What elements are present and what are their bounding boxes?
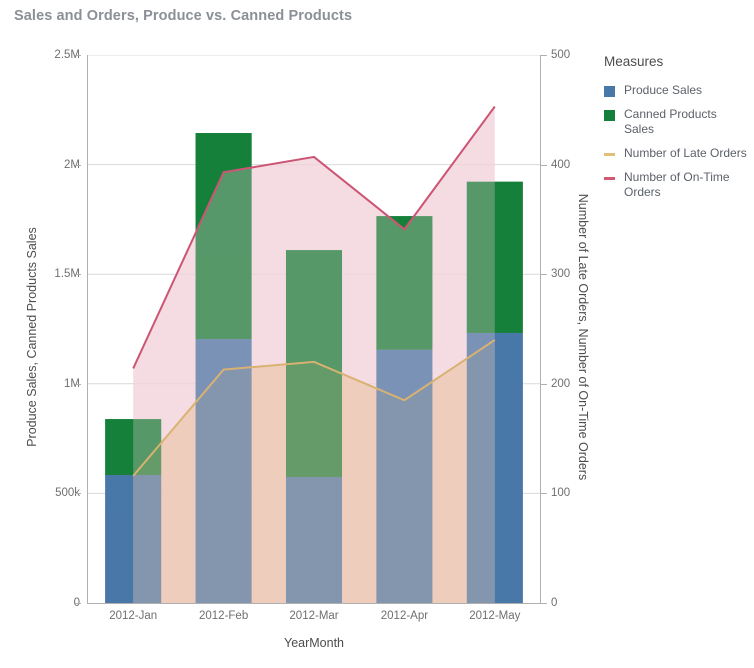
y-axis-right-tick-label: 500 — [551, 49, 570, 61]
bar-canned-products-sales-overlay[interactable] — [467, 182, 523, 333]
bar-canned-products-sales-overlay[interactable] — [105, 419, 161, 475]
y-axis-left-tick-label: 2M — [8, 159, 80, 171]
bar-produce-sales-overlay[interactable] — [105, 475, 161, 603]
bar-canned-products-sales-overlay[interactable] — [376, 216, 432, 350]
legend-item[interactable]: Canned Products Sales — [604, 107, 750, 137]
legend-item-label: Produce Sales — [624, 83, 702, 98]
y-axis-right-tick-mark — [541, 493, 547, 494]
y-axis-right-tick-label: 300 — [551, 268, 570, 280]
x-axis-title: YearMonth — [88, 636, 540, 650]
x-axis-tick-label: 2012-May — [450, 610, 540, 632]
x-axis-tick-label: 2012-Jan — [88, 610, 178, 632]
y-axis-right-tick-mark — [541, 603, 547, 604]
y-axis-left-tick-mark — [75, 274, 81, 275]
chart-container: Sales and Orders, Produce vs. Canned Pro… — [0, 0, 754, 668]
y-axis-right-tick-label: 200 — [551, 378, 570, 390]
legend-color-swatch-icon — [604, 110, 615, 121]
y-axis-right-tick-mark — [541, 165, 547, 166]
y-axis-left-tick-mark — [75, 493, 81, 494]
y-axis-left-title: Produce Sales, Canned Products Sales — [25, 177, 39, 497]
y-axis-left-tick-label: 1.5M — [8, 268, 80, 280]
plot-area[interactable] — [88, 55, 540, 603]
bar-produce-sales-overlay[interactable] — [196, 339, 252, 603]
y-axis-right-tick-mark — [541, 274, 547, 275]
legend-item[interactable]: Produce Sales — [604, 83, 750, 98]
y-axis-right-tick-label: 100 — [551, 487, 570, 499]
y-axis-left-tick-mark — [75, 55, 81, 56]
x-axis-tick-label: 2012-Apr — [359, 610, 449, 632]
legend-item-label: Number of Late Orders — [624, 146, 747, 161]
y-axis-right-tick-mark — [541, 384, 547, 385]
y-axis-left-tick-label: 1M — [8, 378, 80, 390]
bar-produce-sales-overlay[interactable] — [286, 477, 342, 603]
legend-item-label: Canned Products Sales — [624, 107, 750, 137]
plot-svg — [88, 55, 540, 603]
legend-title: Measures — [604, 54, 750, 69]
legend-items: Produce SalesCanned Products SalesNumber… — [604, 83, 750, 200]
x-axis-ticks: 2012-Jan2012-Feb2012-Mar2012-Apr2012-May — [88, 610, 540, 632]
legend-color-swatch-icon — [604, 86, 615, 97]
y-axis-left-tick-label: 500k — [8, 487, 80, 499]
y-axis-left-tick-label: 2.5M — [8, 49, 80, 61]
legend-line-swatch-icon — [604, 177, 615, 180]
x-axis-tick-label: 2012-Mar — [269, 610, 359, 632]
legend-item[interactable]: Number of On-Time Orders — [604, 170, 750, 200]
y-axis-left-ticks: 0500k1M1.5M2M2.5M — [0, 0, 80, 668]
y-axis-left-tick-mark — [75, 165, 81, 166]
legend-line-swatch-icon — [604, 153, 615, 156]
y-axis-right-line — [540, 55, 541, 604]
x-axis-tick-label: 2012-Feb — [178, 610, 268, 632]
y-axis-right-title: Number of Late Orders, Number of On-Time… — [576, 177, 590, 497]
bar-canned-products-sales-overlay[interactable] — [196, 133, 252, 339]
y-axis-right-tick-label: 400 — [551, 159, 570, 171]
y-axis-left-tick-label: 0 — [8, 597, 80, 609]
y-axis-left-tick-mark — [75, 603, 81, 604]
legend-item[interactable]: Number of Late Orders — [604, 146, 750, 161]
y-axis-right-tick-mark — [541, 55, 547, 56]
y-axis-right-tick-label: 0 — [551, 597, 557, 609]
x-axis-line — [87, 603, 541, 604]
y-axis-left-tick-mark — [75, 384, 81, 385]
legend: Measures Produce SalesCanned Products Sa… — [604, 54, 750, 209]
y-axis-left-line — [87, 55, 88, 604]
legend-item-label: Number of On-Time Orders — [624, 170, 750, 200]
bar-produce-sales-overlay[interactable] — [467, 333, 523, 603]
